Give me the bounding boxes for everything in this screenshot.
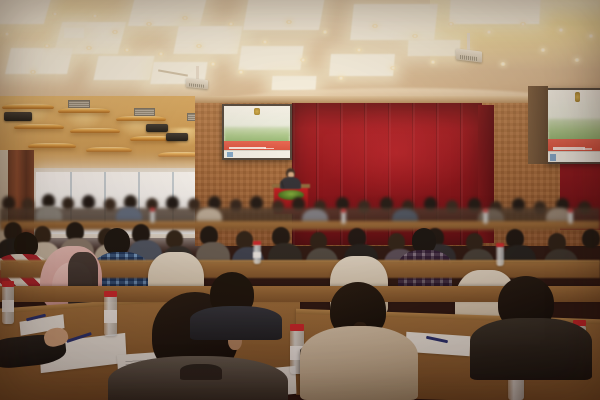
water-bottle (341, 211, 346, 224)
downlight (238, 70, 244, 74)
downlight (430, 60, 436, 64)
downlight (158, 52, 164, 56)
downlight (356, 48, 362, 52)
downlight (146, 22, 152, 26)
conference-hall-photo (0, 0, 600, 400)
slide-crest-logo (575, 92, 580, 102)
audience-head (82, 195, 95, 209)
bottle-cap (341, 209, 346, 212)
projector-mount-pole (467, 33, 470, 51)
downlight (338, 76, 344, 80)
bottle-cap (150, 208, 155, 211)
audience-head-plaid (104, 228, 130, 255)
wood-shelf (2, 104, 54, 109)
bottle-cap (568, 209, 573, 212)
foreground-beige-sweater (300, 326, 418, 400)
bottle-cap (104, 291, 117, 297)
bottle-cap (253, 241, 261, 245)
bottle-cap (2, 281, 14, 287)
right-screen-wall-shadow (528, 86, 548, 164)
downlight (210, 62, 216, 66)
ceiling-light-panel (243, 0, 325, 30)
bottle-label (253, 252, 261, 258)
slide-title-text (553, 147, 585, 150)
audience-torso (36, 206, 62, 222)
downlight (412, 34, 418, 38)
ceiling-light-panel (5, 48, 73, 74)
downlight (540, 48, 546, 52)
audience-head (582, 229, 600, 248)
bottle-cap (483, 209, 488, 212)
left-projection-screen (222, 104, 292, 160)
wall-vent (134, 108, 155, 116)
water-bottle (483, 211, 488, 224)
ceiling-light-panel (272, 76, 317, 90)
bottle-cap (290, 324, 304, 331)
ceiling-light-panel (238, 46, 303, 70)
downlight (486, 30, 492, 34)
bottle-label (104, 310, 117, 323)
ceiling-light-panel (449, 0, 541, 24)
downlight (112, 30, 118, 34)
projector-mount-pole (196, 66, 199, 80)
slide-footer-logo (550, 154, 555, 160)
wall-speaker (146, 124, 168, 132)
downlight (520, 22, 526, 26)
downlight (322, 30, 328, 34)
ceiling-light-panel (408, 40, 461, 56)
downlight (124, 48, 130, 52)
wood-shelf (70, 128, 120, 133)
foreground-collar (180, 364, 222, 380)
wall-speaker (166, 133, 188, 141)
slide-footer (548, 151, 600, 162)
slide-footer-logo (227, 152, 233, 157)
downlight (558, 28, 564, 32)
downlight (300, 58, 306, 62)
wood-shelf (58, 108, 110, 113)
wood-shelf (86, 147, 132, 152)
ceiling-light-panel (329, 54, 395, 76)
slide-footer (224, 150, 290, 158)
downlight (574, 58, 580, 62)
downlight (286, 20, 292, 24)
downlight (390, 66, 396, 70)
right-projection-screen (546, 88, 600, 164)
ceiling-light-panel (93, 56, 154, 80)
downlight (182, 16, 188, 20)
downlight (86, 46, 92, 50)
ceiling-light-panel (173, 26, 242, 54)
downlight (92, 14, 98, 18)
slide-subtitle-text (583, 148, 592, 151)
foreground-dark-jacket (470, 318, 592, 380)
downlight (500, 62, 506, 66)
downlight (228, 22, 234, 26)
water-bottle (496, 246, 504, 266)
downlight (588, 34, 594, 38)
wood-shelf (28, 143, 76, 148)
ceiling-light-panel (64, 28, 84, 38)
downlight (52, 12, 58, 16)
downlight (196, 44, 202, 48)
ceiling-light-panel (0, 0, 52, 24)
downlight (4, 32, 10, 36)
bottle-label (2, 300, 14, 312)
downlight (372, 24, 378, 28)
ceiling-light-panel (128, 0, 208, 26)
water-bottle (568, 211, 573, 224)
wood-shelf (14, 124, 64, 129)
downlight (30, 70, 36, 74)
wall-vent (68, 100, 90, 108)
downlight (448, 22, 454, 26)
audience-navy-jacket (190, 306, 282, 340)
table-row-far (0, 221, 600, 230)
downlight (262, 40, 268, 44)
wall-speaker (4, 112, 32, 121)
downlight (44, 44, 50, 48)
bottle-cap (496, 243, 504, 247)
ceiling-light-panel (350, 4, 438, 40)
wall-light-glow (62, 110, 106, 130)
water-bottle (150, 210, 155, 223)
wood-shelf (116, 116, 166, 121)
slide-crest-logo (254, 108, 260, 115)
